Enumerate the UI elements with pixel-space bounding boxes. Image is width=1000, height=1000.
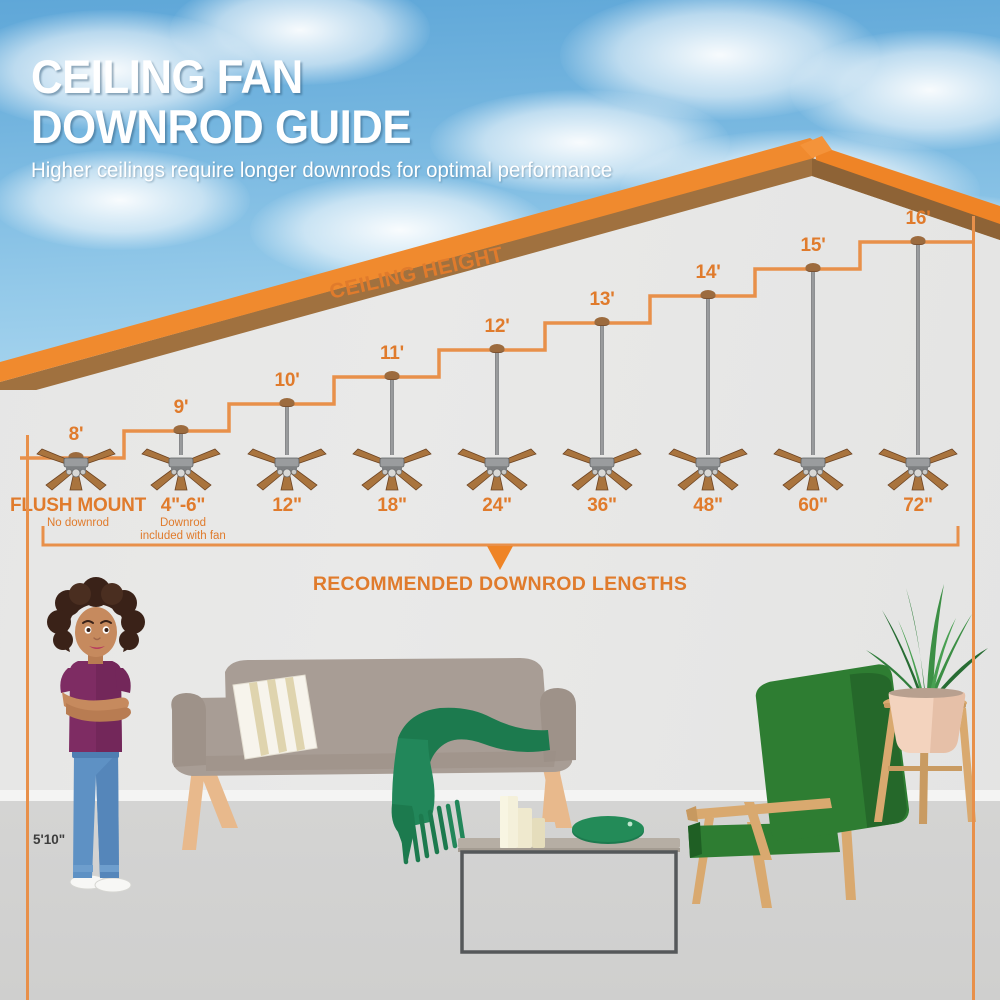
ceiling-fan <box>763 432 863 499</box>
subtitle: Higher ceilings require longer downrods … <box>31 158 612 183</box>
downrod <box>916 244 920 455</box>
downrod-label-flush-mount: FLUSH MOUNT No downrod <box>10 495 146 530</box>
downrod-length: 72" <box>903 495 933 517</box>
room-scene <box>0 560 1000 1000</box>
title-line-2: DOWNROD GUIDE <box>31 102 600 152</box>
downrod-label-24: 24" <box>482 495 512 517</box>
downrod-label-4-6: 4"-6" Downrod included with fan <box>140 495 226 543</box>
downrod <box>811 271 815 455</box>
bracket-arrow-icon <box>487 546 513 570</box>
ceiling-fan <box>868 432 968 499</box>
candles <box>500 796 545 848</box>
ceiling-label-13: 13' <box>589 289 614 311</box>
frame-right-line <box>972 216 975 1000</box>
downrod-label-18: 18" <box>377 495 407 517</box>
ceiling-label-14: 14' <box>695 262 720 284</box>
downrod-length: 4"-6" <box>140 495 226 517</box>
canopy-mount <box>385 371 400 380</box>
downrod-length: FLUSH MOUNT <box>10 495 146 517</box>
ceiling-label-12: 12' <box>484 316 509 338</box>
coffee-table <box>458 838 680 952</box>
ceiling-label-10: 10' <box>274 370 299 392</box>
canopy-mount <box>280 398 295 407</box>
ceiling-fan <box>447 432 547 499</box>
ceiling-fan <box>131 432 231 499</box>
ceiling-label-15: 15' <box>800 235 825 257</box>
ceiling-fan <box>342 432 442 499</box>
canopy-mount <box>701 290 716 299</box>
recommended-downrod-lengths-label: RECOMMENDED DOWNROD LENGTHS <box>313 573 687 596</box>
downrod-label-60: 60" <box>798 495 828 517</box>
ceiling-fan <box>237 432 337 499</box>
ceiling-fan <box>552 432 652 499</box>
downrod-label-72: 72" <box>903 495 933 517</box>
decor-tray <box>572 816 644 844</box>
downrod-length: 36" <box>587 495 617 517</box>
ceiling-label-9: 9' <box>174 397 189 419</box>
ceiling-label-16: 16' <box>905 208 930 230</box>
ceiling-fan <box>658 432 758 499</box>
canopy-mount <box>911 236 926 245</box>
downrod-label-36: 36" <box>587 495 617 517</box>
downrod-note-2: included with fan <box>140 530 226 543</box>
downrod-length: 48" <box>693 495 723 517</box>
title-line-1: CEILING FAN <box>31 52 600 102</box>
throw-pillow <box>233 675 317 759</box>
downrod-length: 24" <box>482 495 512 517</box>
downrod-note: Downrod <box>140 517 226 530</box>
person-height-label: 5'10" <box>33 832 65 847</box>
title-block: CEILING FAN DOWNROD GUIDE Higher ceiling… <box>31 52 643 183</box>
canopy-mount <box>490 344 505 353</box>
ceiling-label-8: 8' <box>69 424 84 446</box>
lounge-chair <box>686 663 913 908</box>
ceiling-label-11: 11' <box>380 343 404 365</box>
downrod-length: 12" <box>272 495 302 517</box>
frame-left-line <box>26 435 29 1000</box>
canopy-mount <box>806 263 821 272</box>
downrod-label-12: 12" <box>272 495 302 517</box>
downrod-label-48: 48" <box>693 495 723 517</box>
infographic-canvas: CEILING HEIGHT 8' 9' 10' 11' 12' 13' 14'… <box>0 0 1000 1000</box>
downrod-length: 18" <box>377 495 407 517</box>
canopy-mount <box>595 317 610 326</box>
downrod-note: No downrod <box>10 517 146 530</box>
downrod-length: 60" <box>798 495 828 517</box>
